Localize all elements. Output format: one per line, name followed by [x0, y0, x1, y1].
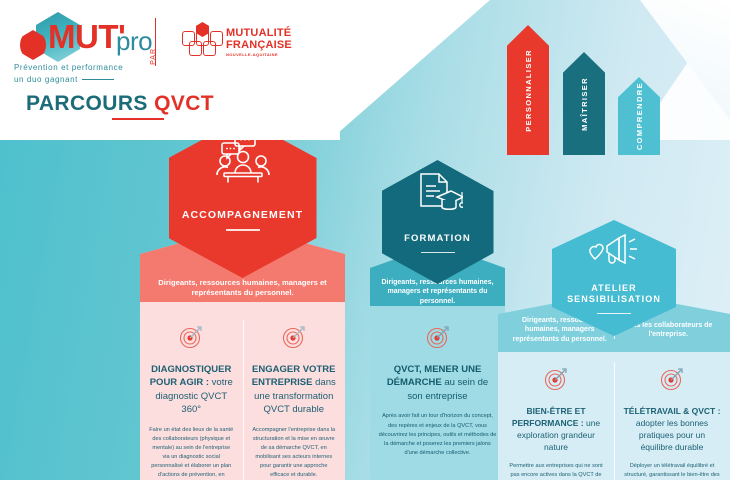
card-heading: QVCT, MENER UNE DÉMARCHE au sein de son … — [378, 363, 497, 403]
card-heading: ENGAGER VOTRE ENTREPRISE dans une transf… — [251, 363, 338, 417]
level-arrow-label: PERSONNALISER — [524, 49, 533, 132]
badge-title-line2: SENSIBILISATION — [567, 294, 661, 305]
cards-atelier: BIEN-ÊTRE ET PERFORMANCE : une explorati… — [498, 356, 730, 480]
mf-line1: MUTUALITÉ — [226, 28, 292, 40]
infographic-canvas: MUT' pro Prévention et performance un du… — [0, 0, 730, 480]
card-heading: BIEN-ÊTRE ET PERFORMANCE : une explorati… — [506, 405, 606, 453]
logo-main-text: MUT' — [48, 18, 125, 56]
mutualite-francaise-logo: MUTUALITÉ FRANÇAISE NOUVELLE-AQUITAINE — [180, 22, 290, 56]
card-body: Faire un état des lieux de la santé des … — [148, 426, 235, 480]
card-body: Déployer un télétravail équilibré et str… — [622, 462, 722, 480]
megaphone-heart-icon — [587, 232, 641, 277]
target-arrow-icon — [425, 324, 451, 355]
logo-tagline: Prévention et performance un duo gagnant — [14, 62, 164, 86]
level-arrow-personnaliser[interactable]: PERSONNALISER — [507, 25, 549, 155]
mf-line2: FRANÇAISE — [226, 40, 292, 52]
level-arrow-label: COMPRENDRE — [635, 82, 644, 150]
cards-accompagnement: DIAGNOSTIQUER POUR AGIR : votre diagnost… — [140, 314, 345, 480]
page-title-underline — [112, 118, 164, 120]
mutpro-logo: MUT' pro Prévention et performance un du… — [14, 14, 164, 86]
level-arrow-comprendre[interactable]: COMPRENDRE — [618, 77, 660, 155]
card-body: Permettre aux entreprises qui ne sont pa… — [506, 462, 606, 480]
logo-sub-text: pro — [116, 26, 152, 57]
badge-underline — [597, 313, 631, 315]
card-body: Accompagner l'entreprise dans la structu… — [251, 426, 338, 480]
page-title: PARCOURS QVCT — [26, 92, 214, 116]
card-mener-demarche[interactable]: QVCT, MENER UNE DÉMARCHE au sein de son … — [370, 314, 505, 466]
badge-title-line1: ATELIER — [567, 283, 661, 294]
document-graduation-cap-icon — [413, 172, 463, 223]
par-label: PAR — [150, 48, 157, 65]
column-formation: FORMATION Dirigeants, ressources humaine… — [370, 160, 505, 480]
badge-underline — [421, 252, 455, 254]
card-heading: TÉLÉTRAVAIL & QVCT : adopter les bonnes … — [622, 405, 722, 453]
card-engager[interactable]: ENGAGER VOTRE ENTREPRISE dans une transf… — [243, 314, 346, 480]
badge-title: ACCOMPAGNEMENT — [182, 209, 303, 222]
card-bien-etre-performance[interactable]: BIEN-ÊTRE ET PERFORMANCE : une explorati… — [498, 356, 614, 480]
column-atelier-sensibilisation: ATELIER SENSIBILISATION Dirigeants, ress… — [498, 220, 730, 480]
badge-title: FORMATION — [404, 233, 471, 245]
badge-title: ATELIER SENSIBILISATION — [567, 283, 661, 306]
target-arrow-icon — [543, 366, 569, 397]
cards-formation: QVCT, MENER UNE DÉMARCHE au sein de son … — [370, 314, 505, 466]
level-arrow-label: MAÎTRISER — [580, 77, 589, 131]
target-arrow-icon — [659, 366, 685, 397]
column-accompagnement: ACCOMPAGNEMENT Dirigeants, ressources hu… — [140, 118, 345, 480]
card-body: Après avoir fait un tour d'horizon du co… — [378, 412, 497, 457]
card-heading: DIAGNOSTIQUER POUR AGIR : votre diagnost… — [148, 363, 235, 417]
logo-tagline-line2: un duo gagnant — [14, 74, 164, 86]
mf-hex-cluster-icon — [180, 22, 224, 56]
mf-wordmark: MUTUALITÉ FRANÇAISE NOUVELLE-AQUITAINE — [226, 28, 292, 57]
badge-underline — [226, 229, 260, 231]
target-arrow-icon — [178, 324, 204, 355]
card-diagnostiquer[interactable]: DIAGNOSTIQUER POUR AGIR : votre diagnost… — [140, 314, 243, 480]
level-arrow-maitriser[interactable]: MAÎTRISER — [563, 52, 605, 155]
mf-region: NOUVELLE-AQUITAINE — [226, 53, 292, 57]
card-teletravail-qvct[interactable]: TÉLÉTRAVAIL & QVCT : adopter les bonnes … — [614, 356, 730, 480]
logo-tagline-line1: Prévention et performance — [14, 62, 164, 74]
page-title-highlight: QVCT — [154, 92, 214, 115]
target-arrow-icon — [281, 324, 307, 355]
